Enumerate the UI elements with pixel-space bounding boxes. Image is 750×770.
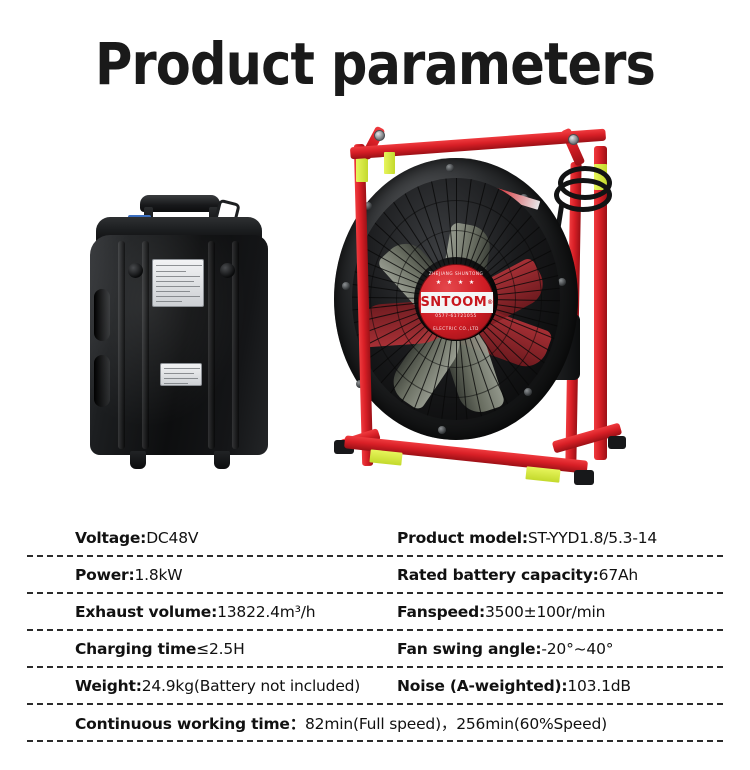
spec-key: Charging time bbox=[75, 640, 196, 658]
hub-logo-registered: ® bbox=[487, 300, 493, 306]
table-row: Charging time≤2.5H Fan swing angle:-20°~… bbox=[27, 631, 723, 668]
hub-logo-brand: SNTOOM bbox=[421, 296, 488, 309]
case-side-groove bbox=[94, 289, 110, 341]
case-spec-label-upper bbox=[152, 259, 204, 307]
spec-cell-battery-capacity: Rated battery capacity:67Ah bbox=[397, 566, 638, 584]
spec-value: ST-YYD1.8/5.3-14 bbox=[528, 529, 657, 547]
table-row: Exhaust volume:13822.4m³/h Fanspeed:3500… bbox=[27, 594, 723, 631]
spec-value: 67Ah bbox=[599, 566, 638, 584]
hub-logo-arc-top: ZHEJIANG SHUNTONG bbox=[419, 272, 493, 276]
case-side-groove bbox=[94, 355, 110, 407]
case-body bbox=[90, 235, 268, 455]
reflective-band bbox=[369, 449, 402, 465]
spec-value: DC48V bbox=[146, 529, 198, 547]
reflective-band bbox=[356, 158, 368, 182]
spec-cell-fan-swing-angle: Fan swing angle:-20°~40° bbox=[397, 640, 613, 658]
spec-cell-product-model: Product model:ST-YYD1.8/5.3-14 bbox=[397, 529, 657, 547]
spec-key: Voltage: bbox=[75, 529, 146, 547]
table-row: Power:1.8kW Rated battery capacity:67Ah bbox=[27, 557, 723, 594]
case-wheel bbox=[130, 451, 146, 469]
spec-key: Rated battery capacity: bbox=[397, 566, 599, 584]
hub-logo-phone: 0577-61721055 bbox=[419, 315, 493, 319]
spec-key: Power: bbox=[75, 566, 134, 584]
spec-cell-voltage: Voltage:DC48V bbox=[27, 529, 397, 547]
spec-value: -20°~40° bbox=[541, 640, 613, 658]
spec-value: 1.8kW bbox=[134, 566, 182, 584]
case-wheel bbox=[214, 451, 230, 469]
case-rib bbox=[208, 241, 215, 449]
table-row: Weight:24.9kg(Battery not included) Nois… bbox=[27, 668, 723, 705]
spec-key: Continuous working time： bbox=[75, 712, 305, 734]
hub-logo-stars: ★ ★ ★ ★ bbox=[419, 280, 493, 286]
handle-bolt-right bbox=[568, 134, 579, 145]
spec-key: Weight: bbox=[75, 677, 142, 695]
case-rib bbox=[118, 241, 125, 449]
table-row: Voltage:DC48V Product model:ST-YYD1.8/5.… bbox=[27, 520, 723, 557]
spec-table: Voltage:DC48V Product model:ST-YYD1.8/5.… bbox=[0, 520, 750, 742]
frame-foot-front bbox=[574, 470, 594, 485]
hub-logo: ZHEJIANG SHUNTONG ★ ★ ★ ★ SNTOOM® 0577-6… bbox=[418, 264, 494, 340]
spec-value: 103.1dB bbox=[567, 677, 630, 695]
spec-value: 3500±100r/min bbox=[485, 603, 605, 621]
table-row: Continuous working time：82min(Full speed… bbox=[27, 705, 723, 742]
spec-value: ≤2.5H bbox=[196, 640, 244, 658]
case-screw bbox=[128, 263, 143, 278]
reflective-band bbox=[384, 152, 395, 174]
page-title: Product parameters bbox=[45, 30, 705, 98]
handle-bolt-left bbox=[374, 130, 385, 141]
spec-value: 24.9kg(Battery not included) bbox=[142, 677, 360, 695]
battery-case-image bbox=[88, 195, 268, 485]
spec-cell-exhaust-volume: Exhaust volume:13822.4m³/h bbox=[27, 603, 397, 621]
spec-key: Product model: bbox=[397, 529, 528, 547]
spec-key: Fan swing angle: bbox=[397, 640, 541, 658]
spec-cell-weight: Weight:24.9kg(Battery not included) bbox=[27, 677, 397, 695]
spec-cell-power: Power:1.8kW bbox=[27, 566, 397, 584]
spec-cell-charging-time: Charging time≤2.5H bbox=[27, 640, 397, 658]
spec-cell-fanspeed: Fanspeed:3500±100r/min bbox=[397, 603, 605, 621]
spec-value: 13822.4m³/h bbox=[217, 603, 315, 621]
case-spec-label-lower bbox=[160, 363, 202, 386]
spec-key: Fanspeed: bbox=[397, 603, 485, 621]
hub-logo-arc-bottom: ELECTRIC CO.,LTD bbox=[419, 327, 493, 331]
product-parameters-page: Product parameters bbox=[0, 0, 750, 770]
spec-cell-noise: Noise (A-weighted):103.1dB bbox=[397, 677, 631, 695]
spec-key: Exhaust volume: bbox=[75, 603, 217, 621]
frame-foot-right bbox=[608, 436, 626, 449]
hub-logo-band: SNTOOM® bbox=[421, 292, 493, 313]
reflective-band bbox=[525, 466, 560, 482]
case-screw bbox=[220, 263, 235, 278]
spec-cell-continuous-working-time: Continuous working time：82min(Full speed… bbox=[27, 712, 607, 734]
spec-key: Noise (A-weighted): bbox=[397, 677, 567, 695]
spec-value: 82min(Full speed)，256min(60%Speed) bbox=[305, 712, 607, 734]
case-rib bbox=[142, 241, 149, 449]
product-photo-stage: ZHEJIANG SHUNTONG ★ ★ ★ ★ SNTOOM® 0577-6… bbox=[0, 110, 750, 510]
fan-unit-image: ZHEJIANG SHUNTONG ★ ★ ★ ★ SNTOOM® 0577-6… bbox=[322, 118, 642, 490]
